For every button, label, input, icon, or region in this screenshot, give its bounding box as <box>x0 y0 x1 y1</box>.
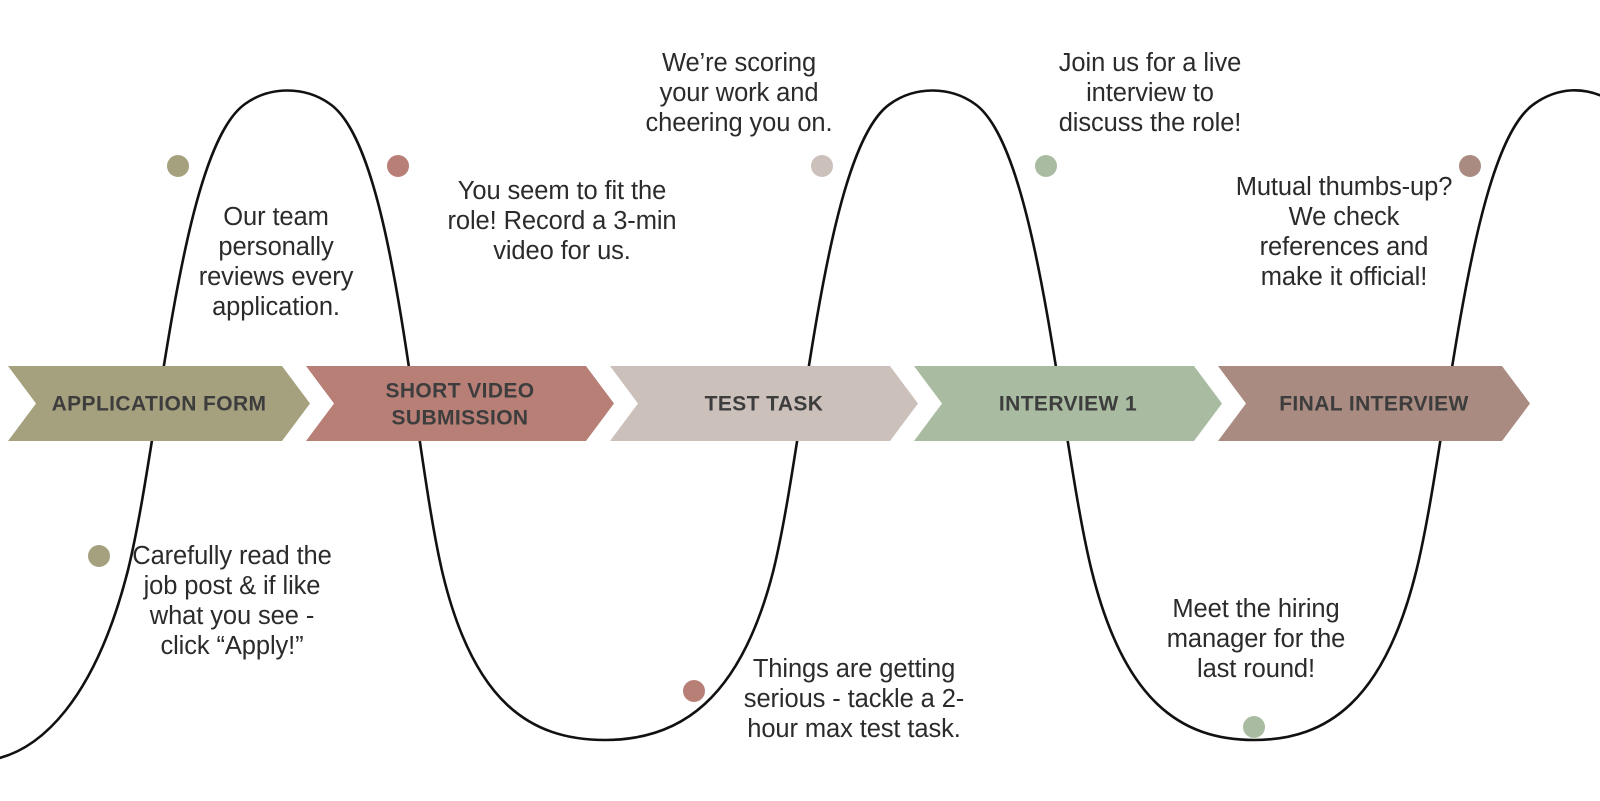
note-top-final-interview: Mutual thumbs-up? We check references an… <box>1222 172 1466 292</box>
dot-test-task-top <box>811 155 833 177</box>
stage-chevron-bar: APPLICATION FORMSHORT VIDEOSUBMISSIONTES… <box>0 366 1600 441</box>
stage-label-test-task: TEST TASK <box>705 393 824 416</box>
stage-label-interview-1: INTERVIEW 1 <box>999 393 1137 416</box>
dot-short-video-top <box>387 155 409 177</box>
note-bottom-final-interview: Meet the hiring manager for the last rou… <box>1158 594 1354 684</box>
note-top-interview-1: Join us for a live interview to discuss … <box>1046 48 1254 138</box>
note-bottom-application: Carefully read the job post & if like wh… <box>118 541 346 661</box>
note-top-test-task: We’re scoring your work and cheering you… <box>634 48 844 138</box>
dot-interview-1-top <box>1035 155 1057 177</box>
dot-application-bottom <box>88 545 110 567</box>
stage-label-application-form: APPLICATION FORM <box>52 393 267 416</box>
stage-label-final-interview: FINAL INTERVIEW <box>1279 393 1469 416</box>
dot-application-top <box>167 155 189 177</box>
stage-chevron-short-video[interactable] <box>306 366 614 441</box>
hiring-process-infographic: APPLICATION FORMSHORT VIDEOSUBMISSIONTES… <box>0 0 1600 801</box>
note-bottom-test-task: Things are getting serious - tackle a 2-… <box>728 654 980 744</box>
dot-test-task-bottom <box>683 680 705 702</box>
note-top-short-video: You seem to fit the role! Record a 3-min… <box>432 176 692 266</box>
dot-interview-1-bottom <box>1243 716 1265 738</box>
note-top-application: Our team personally reviews every applic… <box>196 202 356 322</box>
